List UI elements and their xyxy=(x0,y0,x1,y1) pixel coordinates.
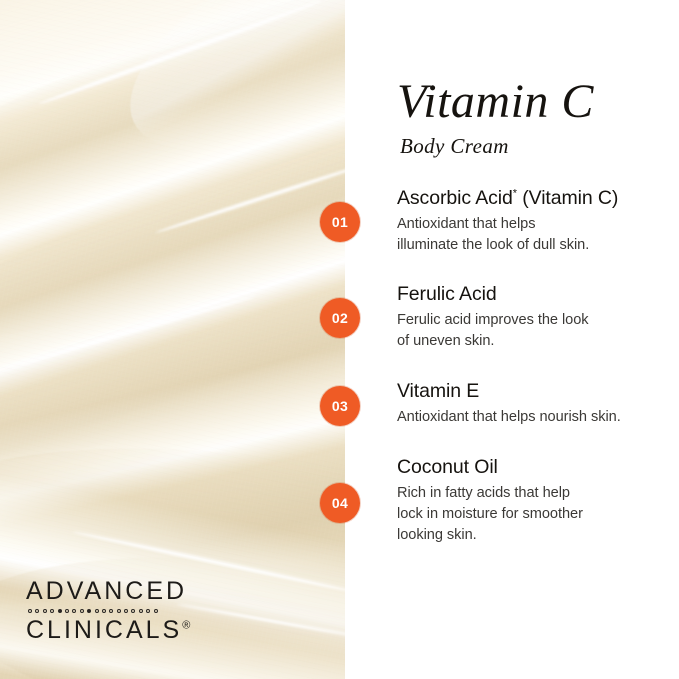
brand-logo-dot xyxy=(28,609,32,613)
ingredient-item-03: Vitamin E Antioxidant that helps nourish… xyxy=(397,381,679,428)
ingredient-badge-04[interactable]: 04 xyxy=(320,483,360,523)
brand-logo-dot xyxy=(102,609,106,613)
ingredient-title-text-01: Ascorbic Acid xyxy=(397,187,513,209)
brand-logo-dot xyxy=(80,609,84,613)
ingredient-desc-line: lock in moisture for smoother xyxy=(397,504,679,525)
brand-logo-dot xyxy=(146,609,150,613)
brand-logo-dot xyxy=(139,609,143,613)
ingredient-title-02: Ferulic Acid xyxy=(397,284,679,305)
product-infographic-panel: ADVANCED CLINICALS® Vitamin C Body Cream… xyxy=(0,0,679,679)
brand-logo-line-clinicals: CLINICALS® xyxy=(26,618,190,643)
product-subtitle: Body Cream xyxy=(400,136,509,157)
ingredient-item-04: Coconut Oil Rich in fatty acids that hel… xyxy=(397,457,679,546)
brand-logo-dot xyxy=(58,609,62,613)
ingredient-desc-line: Antioxidant that helps xyxy=(397,214,679,235)
ingredient-desc-04: Rich in fatty acids that help lock in mo… xyxy=(397,483,679,545)
ingredient-badge-01[interactable]: 01 xyxy=(320,202,360,242)
brand-logo: ADVANCED CLINICALS® xyxy=(26,579,190,643)
ingredient-list-panel: Vitamin C Body Cream Ascorbic Acid* (Vit… xyxy=(345,0,679,679)
brand-logo-dot xyxy=(87,609,91,613)
brand-logo-dot xyxy=(131,609,135,613)
ingredient-title-03: Vitamin E xyxy=(397,381,679,402)
ingredient-desc-line: Ferulic acid improves the look xyxy=(397,310,679,331)
ingredient-title-01: Ascorbic Acid* (Vitamin C) xyxy=(397,188,679,209)
cream-texture-photo: ADVANCED CLINICALS® xyxy=(0,0,345,679)
ingredient-title-04: Coconut Oil xyxy=(397,457,679,478)
ingredient-title-suffix-01: (Vitamin C) xyxy=(517,187,618,209)
brand-logo-dot xyxy=(117,609,121,613)
ingredient-desc-line: illuminate the look of dull skin. xyxy=(397,235,679,256)
ingredient-badge-03[interactable]: 03 xyxy=(320,386,360,426)
brand-logo-clinicals-text: CLINICALS xyxy=(26,616,182,644)
ingredient-desc-03: Antioxidant that helps nourish skin. xyxy=(397,407,679,428)
ingredient-desc-02: Ferulic acid improves the look of uneven… xyxy=(397,310,679,351)
brand-logo-dot xyxy=(65,609,69,613)
ingredient-item-02: Ferulic Acid Ferulic acid improves the l… xyxy=(397,284,679,352)
brand-logo-dot xyxy=(154,609,158,613)
ingredient-desc-line: Antioxidant that helps nourish skin. xyxy=(397,407,679,428)
brand-logo-dot xyxy=(109,609,113,613)
brand-logo-dot xyxy=(124,609,128,613)
brand-logo-dot xyxy=(72,609,76,613)
brand-logo-dot-row xyxy=(28,609,190,613)
brand-logo-dot xyxy=(35,609,39,613)
product-title: Vitamin C xyxy=(397,78,594,126)
ingredient-desc-01: Antioxidant that helps illuminate the lo… xyxy=(397,214,679,255)
brand-logo-line-advanced: ADVANCED xyxy=(26,579,190,604)
ingredient-desc-line: of uneven skin. xyxy=(397,331,679,352)
brand-logo-dot xyxy=(95,609,99,613)
brand-logo-dot xyxy=(50,609,54,613)
ingredient-item-01: Ascorbic Acid* (Vitamin C) Antioxidant t… xyxy=(397,188,679,256)
registered-trademark-icon: ® xyxy=(182,620,190,632)
ingredient-desc-line: Rich in fatty acids that help xyxy=(397,483,679,504)
ingredient-badge-02[interactable]: 02 xyxy=(320,298,360,338)
brand-logo-dot xyxy=(43,609,47,613)
ingredient-desc-line: looking skin. xyxy=(397,525,679,546)
